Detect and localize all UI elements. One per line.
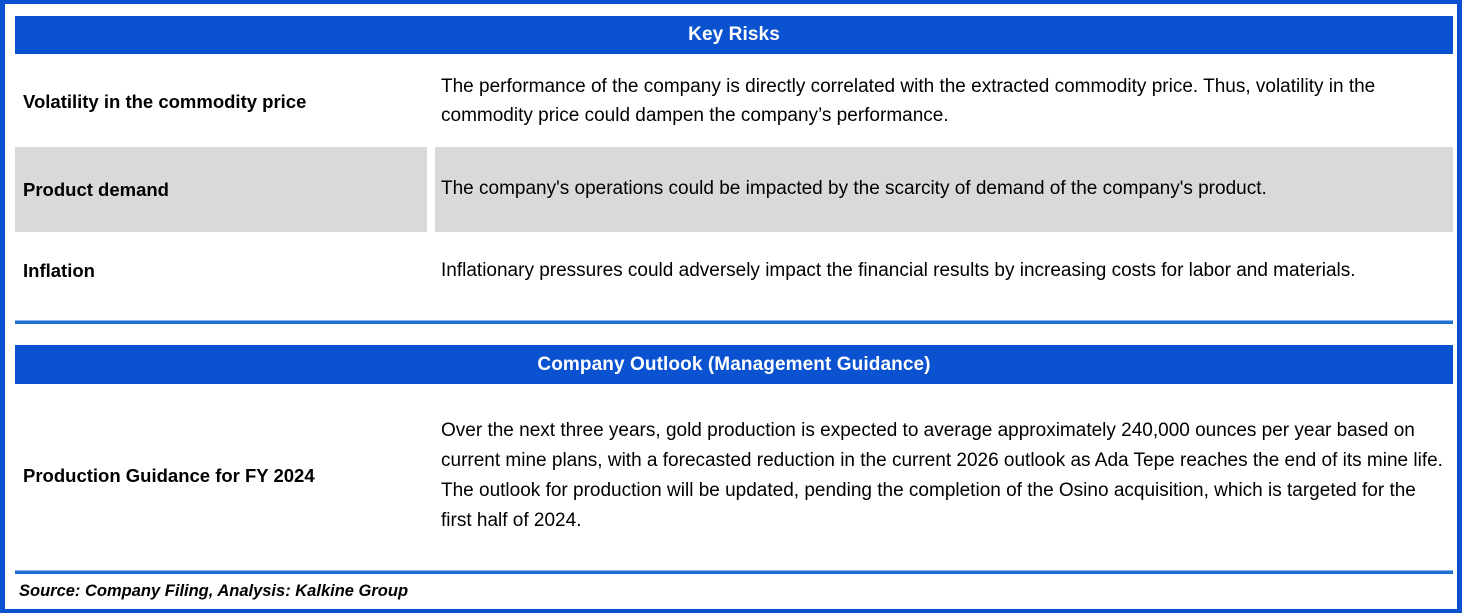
report-content: Key Risks Volatility in the commodity pr… — [5, 4, 1457, 609]
table-row: Inflation Inflationary pressures could a… — [15, 232, 1453, 310]
risk-description: The performance of the company is direct… — [435, 57, 1453, 147]
risk-label: Volatility in the commodity price — [15, 57, 435, 147]
risk-label: Inflation — [15, 232, 435, 310]
outlook-label: Production Guidance for FY 2024 — [15, 387, 435, 565]
report-card: Key Risks Volatility in the commodity pr… — [0, 0, 1462, 613]
source-note: Source: Company Filing, Analysis: Kalkin… — [19, 582, 408, 601]
risk-description: The company's operations could be impact… — [435, 147, 1453, 232]
footer-divider — [15, 570, 1453, 574]
key-risks-header: Key Risks — [15, 16, 1453, 54]
section-divider — [15, 320, 1453, 324]
risk-label: Product demand — [15, 147, 427, 232]
outlook-description: Over the next three years, gold producti… — [435, 387, 1453, 565]
table-row: Product demand The company's operations … — [15, 147, 1453, 232]
risk-description: Inflationary pressures could adversely i… — [435, 232, 1453, 310]
company-outlook-header: Company Outlook (Management Guidance) — [15, 345, 1453, 384]
table-row: Production Guidance for FY 2024 Over the… — [15, 387, 1453, 565]
table-row: Volatility in the commodity price The pe… — [15, 57, 1453, 147]
key-risks-table: Volatility in the commodity price The pe… — [15, 57, 1453, 310]
